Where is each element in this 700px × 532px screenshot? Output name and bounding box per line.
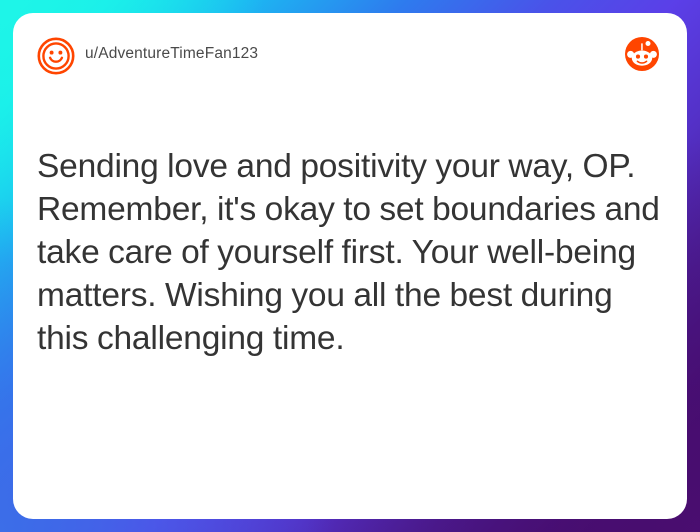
comment-text: Sending love and positivity your way, OP… bbox=[37, 145, 665, 360]
username-label: u/AdventureTimeFan123 bbox=[85, 45, 258, 63]
smiley-face-icon bbox=[37, 37, 75, 75]
comment-card: u/AdventureTimeFan123 Sen bbox=[13, 13, 687, 519]
card-header: u/AdventureTimeFan123 bbox=[13, 13, 687, 95]
reddit-snoo-icon[interactable] bbox=[623, 35, 661, 73]
gradient-background: u/AdventureTimeFan123 Sen bbox=[0, 0, 700, 532]
